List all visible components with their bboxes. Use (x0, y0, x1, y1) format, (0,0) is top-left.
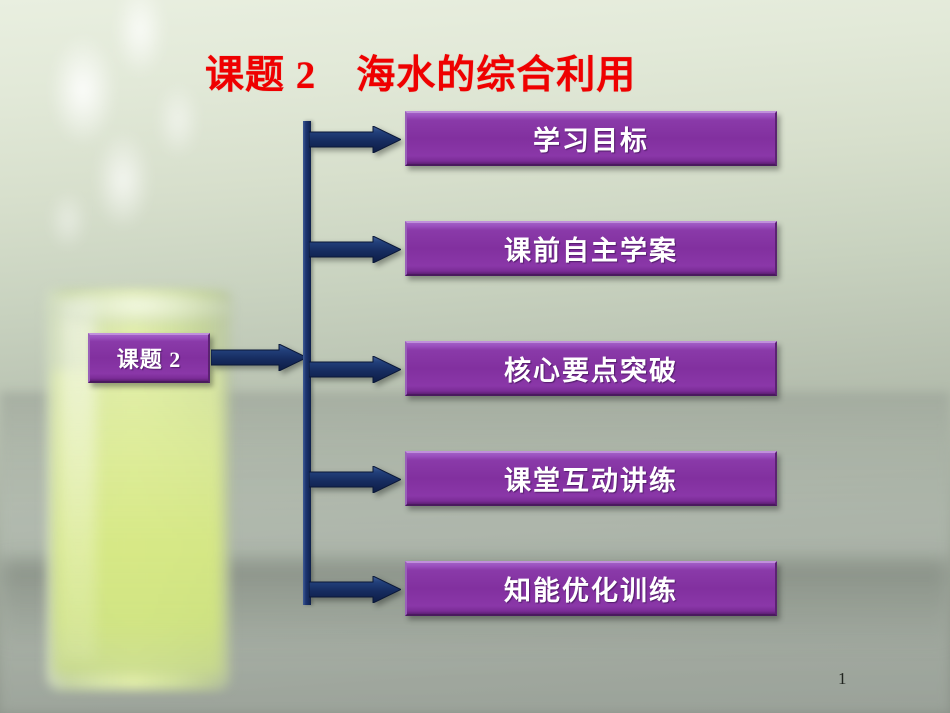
arrow-right-icon-branch-4 (309, 466, 401, 493)
diagram-node-learning-objectives[interactable]: 学习目标 (405, 111, 777, 166)
arrow-right-icon-branch-3 (309, 356, 401, 383)
background-counter-surface (0, 392, 950, 713)
diagram-root-label: 课题 2 (117, 342, 182, 374)
diagram-node-label: 知能优化训练 (504, 569, 678, 608)
diagram-node-core-points[interactable]: 核心要点突破 (405, 341, 777, 396)
diagram-node-label: 课前自主学案 (504, 229, 678, 268)
background-glass-rim (44, 292, 234, 326)
diagram-node-pre-class-study[interactable]: 课前自主学案 (405, 221, 777, 276)
diagram-node-label: 核心要点突破 (504, 349, 678, 388)
slide-title: 课题 2 海水的综合利用 (205, 44, 636, 100)
arrow-right-icon-branch-1 (309, 126, 401, 153)
arrow-right-icon-root (211, 344, 307, 371)
diagram-node-label: 课堂互动讲练 (504, 459, 678, 498)
background-green-liquid (54, 370, 222, 675)
diagram-node-classroom-practice[interactable]: 课堂互动讲练 (405, 451, 777, 506)
diagram-node-label: 学习目标 (533, 119, 649, 158)
diagram-node-skill-training[interactable]: 知能优化训练 (405, 561, 777, 616)
diagram-root-node[interactable]: 课题 2 (88, 333, 210, 383)
page-number: 1 (838, 669, 847, 689)
presentation-slide: 课题 2 海水的综合利用 课题 2 学习目标 (0, 0, 950, 713)
arrow-right-icon-branch-2 (309, 236, 401, 263)
arrow-right-icon-branch-5 (309, 576, 401, 603)
